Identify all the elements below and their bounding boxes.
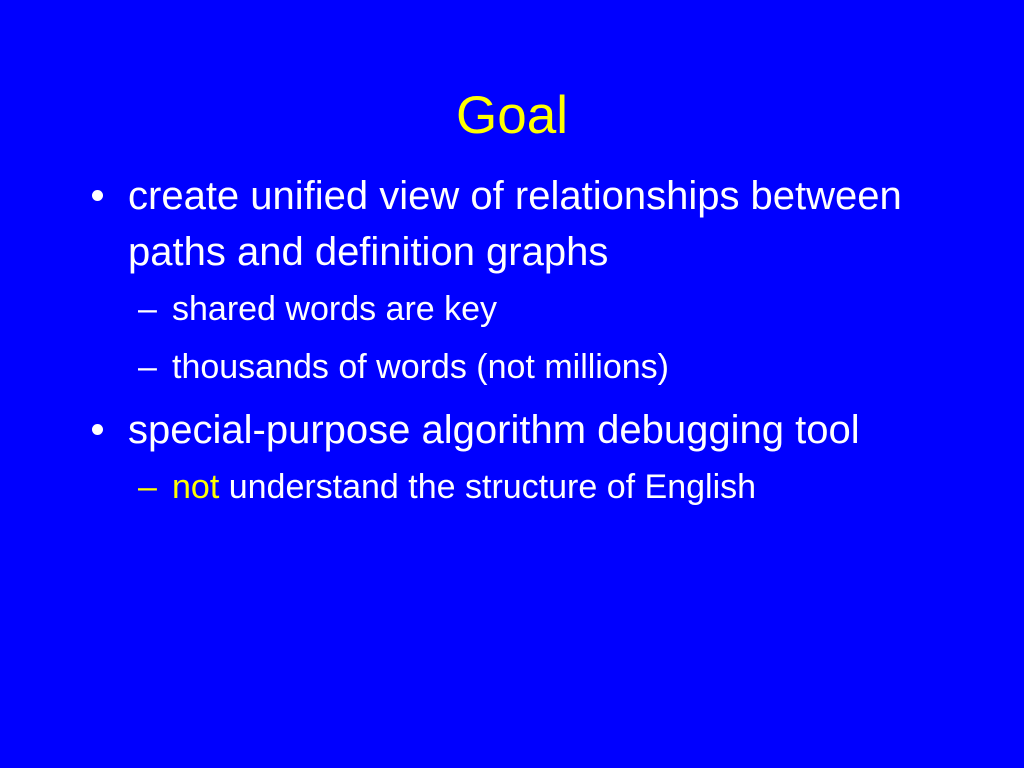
- sub-bullet-dash-icon: –: [138, 338, 157, 396]
- emphasis-word: not: [172, 468, 219, 506]
- sub-bullet-text: thousands of words (not millions): [172, 348, 669, 386]
- slide-title: Goal: [0, 88, 1024, 144]
- sub-bullet-text-remainder: understand the structure of English: [219, 468, 756, 506]
- slide-body: create unified view of relationships bet…: [88, 168, 988, 516]
- bullet-list-level-1: create unified view of relationships bet…: [88, 168, 988, 516]
- bullet-text: special-purpose algorithm debugging tool: [128, 408, 860, 452]
- sub-bullet-list: – not understand the structure of Englis…: [88, 458, 988, 516]
- bullet-text: create unified view of relationships bet…: [128, 174, 902, 274]
- sub-bullet-text: not understand the structure of English: [172, 468, 756, 506]
- bullet-item: create unified view of relationships bet…: [88, 168, 988, 280]
- sub-bullet-item: – thousands of words (not millions): [88, 338, 988, 396]
- sub-bullet-text: shared words are key: [172, 290, 497, 328]
- sub-bullet-dash-icon: –: [138, 280, 157, 338]
- bullet-item: special-purpose algorithm debugging tool: [88, 402, 988, 458]
- sub-bullet-item: – shared words are key: [88, 280, 988, 338]
- sub-bullet-list: – shared words are key – thousands of wo…: [88, 280, 988, 396]
- sub-bullet-dash-icon: –: [138, 458, 157, 516]
- presentation-slide: Goal create unified view of relationship…: [0, 0, 1024, 768]
- sub-bullet-item-emphasized: – not understand the structure of Englis…: [88, 458, 988, 516]
- bullet-dot-icon: [92, 424, 103, 435]
- bullet-dot-icon: [92, 190, 103, 201]
